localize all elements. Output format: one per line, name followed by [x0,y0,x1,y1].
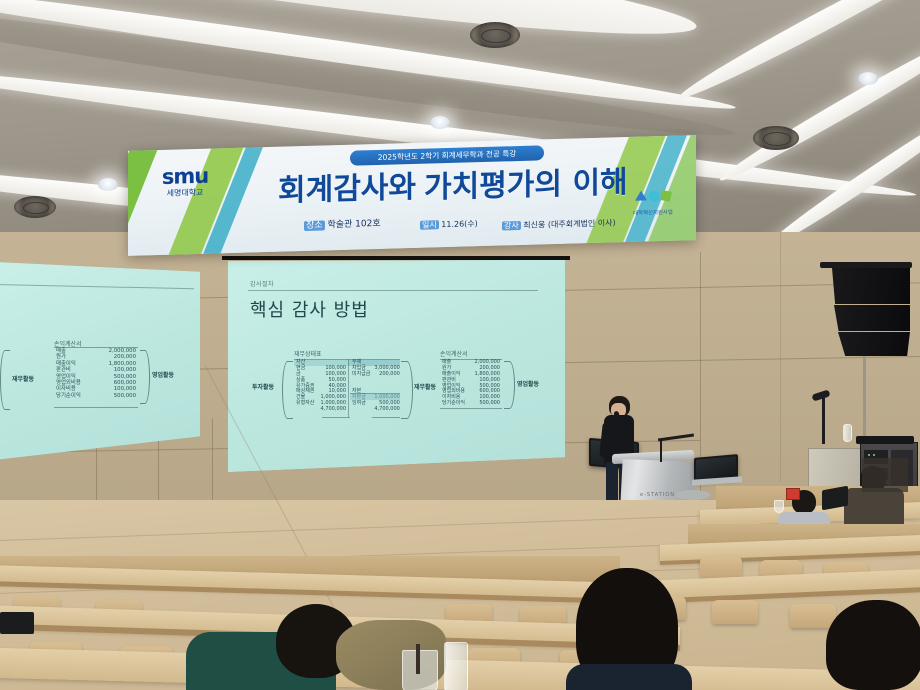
wall-notice-board [862,458,908,492]
brace-investing [282,361,293,419]
podium-stool [676,490,710,500]
exit-sign [786,488,800,500]
smu-logo: smu 세명대학교 [152,165,218,199]
slide-title: 핵심 감사 방법 [250,296,369,322]
income-statement-table-left: 매출2,000,000 원가200,000 매출이익1,800,000 판관비1… [54,348,138,399]
line-array-speaker [832,268,910,304]
table-row: 4,700,000 [350,407,402,413]
seat-back[interactable] [700,556,742,578]
seat-back[interactable] [712,600,758,624]
audience-member-body [844,488,904,528]
banner-title-line-2: 가치평가의 이해 [424,157,628,207]
table-row: 당기순이익500,000 [54,393,138,399]
banner-meta-location: 장소 학술관 102호 [304,216,381,231]
seat-back[interactable] [790,604,836,628]
table-row: 4,700,000 [294,407,348,413]
brace-operating [504,361,515,409]
emblem-label: 대학혁신지원사업 [620,209,686,218]
ceiling-spotlight [98,178,118,191]
brace-financing [401,361,413,419]
meta-key-date: 일시 [420,220,439,230]
gooseneck-microphone [822,398,825,444]
event-banner: smu 세명대학교 2025학년도 2학기 회계세무학과 전공 특강 회계감사와… [128,135,696,256]
meta-key-speaker: 강사 [502,221,521,231]
line-array-speaker [838,332,910,356]
balance-sheet-liabilities-table: 부채 차입금3,000,000 미지급금200,000 자본 자본금1,000,… [350,360,402,413]
water-bottle[interactable] [444,642,468,690]
meta-key-location: 장소 [304,220,325,231]
meta-value-location: 학술관 102호 [327,219,380,230]
income-statement-table: 매출2,000,000 원가200,000 매출이익1,800,000 판관비1… [440,360,502,407]
lecture-hall-photo: 손익계산서 매출2,000,000 원가200,000 매출이익1,800,00… [0,0,920,690]
projection-screen-main: 감사절차 핵심 감사 방법 재무상태표 자산 현금100,000 금100,00… [228,260,565,472]
table-row: 당기순이익500,000 [440,401,502,407]
group-label-operating: 영업활동 [517,379,539,388]
ceiling-air-vent [470,22,520,48]
banner-right-emblem: 대학혁신지원사업 [620,187,686,223]
balance-sheet-caption: 재무상태표 [294,349,322,358]
rack-top-equipment [856,436,914,444]
drink-straw [416,644,420,674]
slide-kicker: 감사절차 [250,279,274,288]
ceiling-air-vent [753,126,799,150]
iced-coffee-cup[interactable] [402,650,438,690]
foreground-audience-body [566,664,692,690]
speaker-support-pole [863,356,866,448]
ceiling-spotlight [430,116,450,129]
meta-value-date: 11.26(수) [441,219,478,229]
ceiling-spotlight [858,72,878,85]
paper-cup [774,500,784,513]
speaker-mount-bar [820,262,912,268]
podium-brand-label: e-STATION [640,492,675,498]
balance-sheet-assets-table: 자산 현금100,000 금100,000 상품50,000 유가증권40,00… [294,360,348,413]
group-label-operating: 영업활동 [152,370,174,379]
banner-meta-date: 일시 11.26(수) [420,218,478,231]
group-label-financing: 재무활동 [414,382,436,391]
laptop[interactable] [0,612,34,634]
smu-logo-mark: smu [152,165,218,187]
water-bottle [843,424,852,442]
meta-value-speaker: 최신웅 (대주회계법인 이사) [523,218,615,230]
group-label-financing: 재무활동 [12,374,34,383]
projection-screen-left: 손익계산서 매출2,000,000 원가200,000 매출이익1,800,00… [0,262,200,460]
banner-title-line-1: 회계감사와 [278,162,416,210]
income-statement-caption: 손익계산서 [440,349,468,358]
podium-gooseneck-microphone [660,440,662,462]
foreground-audience-head [826,600,920,690]
line-array-speaker [834,305,910,331]
emblem-icon [621,187,685,206]
ceiling-air-vent [14,196,56,218]
group-label-investing: 투자활동 [252,382,274,391]
